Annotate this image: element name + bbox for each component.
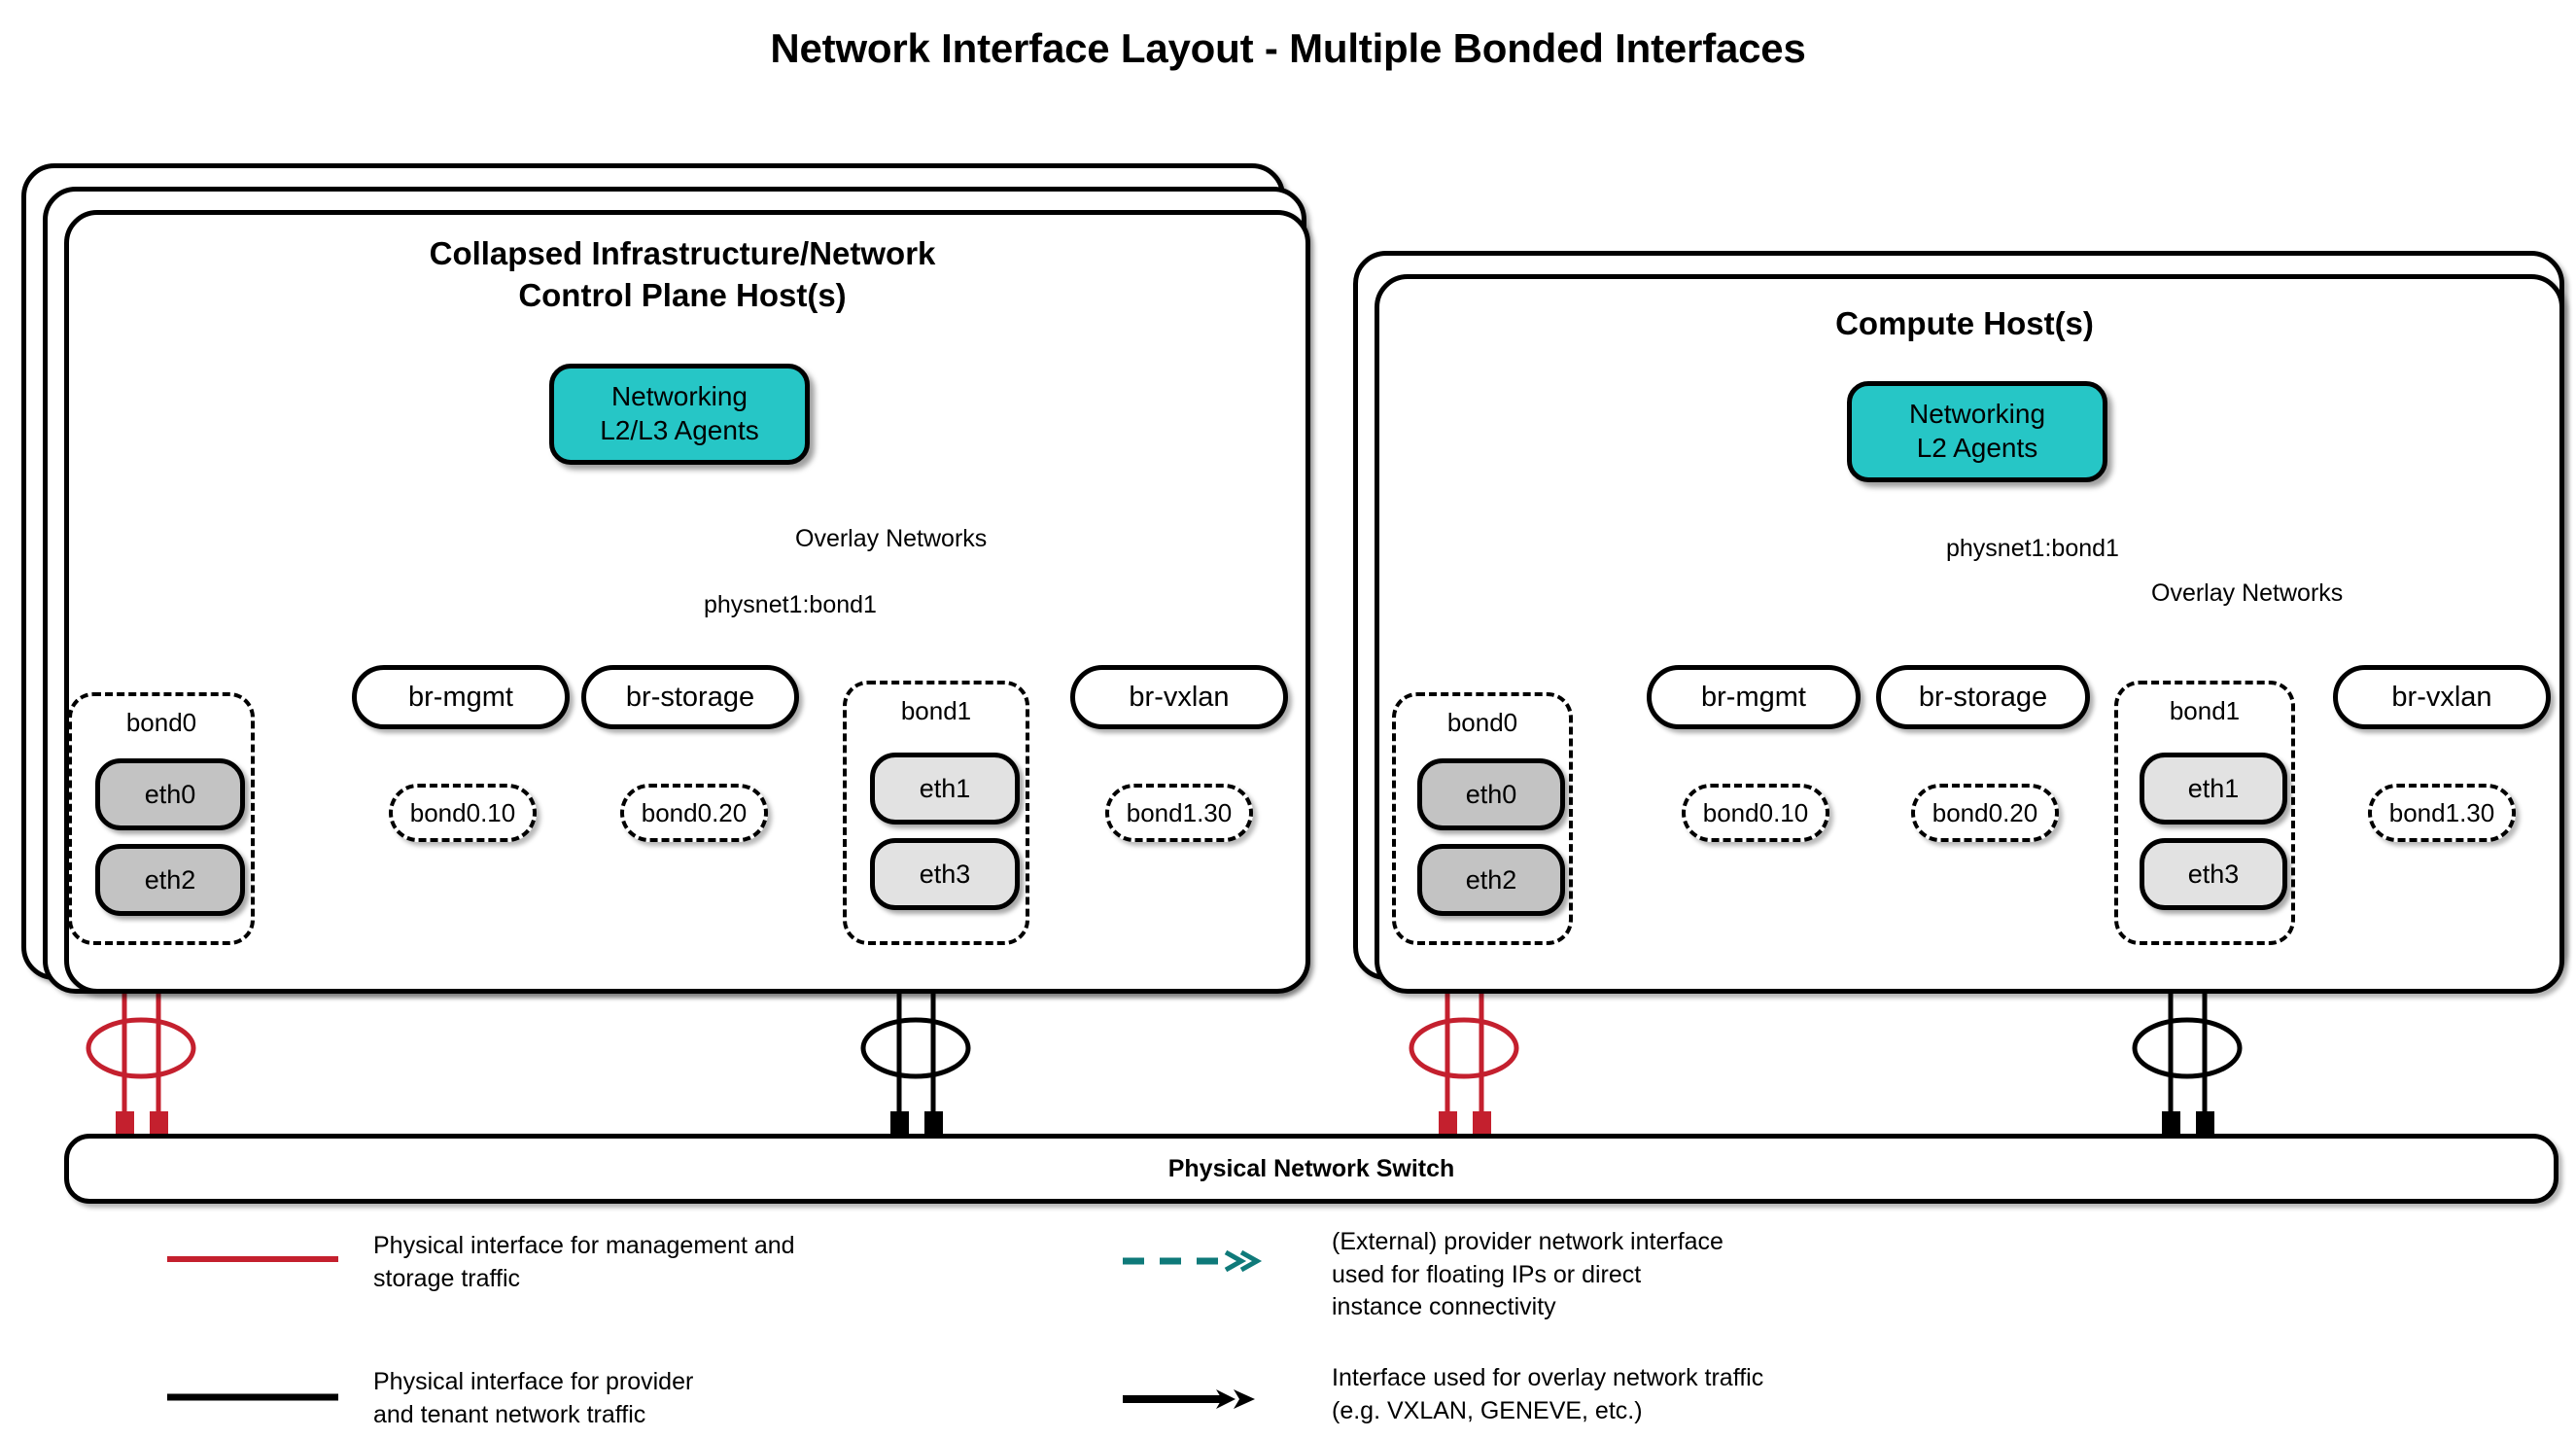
legend-marker-provider-tenant xyxy=(167,1390,342,1409)
agent-box-compute[interactable]: NetworkingL2 Agents xyxy=(1847,381,2107,482)
bridge-br-vxlan-compute[interactable]: br-vxlan xyxy=(2333,665,2551,729)
legend-text-external-provider: (External) provider network interfaceuse… xyxy=(1332,1226,1723,1324)
physical-network-switch[interactable]: Physical Network Switch xyxy=(64,1134,2559,1204)
bridge-br-mgmt-control-plane[interactable]: br-mgmt xyxy=(352,665,570,729)
nic-eth2-compute[interactable]: eth2 xyxy=(1417,844,1565,916)
nic-eth0-compute[interactable]: eth0 xyxy=(1417,758,1565,830)
vlan-bond0-20-compute[interactable]: bond0.20 xyxy=(1911,784,2059,842)
vlan-bond0-10-compute[interactable]: bond0.10 xyxy=(1682,784,1829,842)
agent-box-control-plane[interactable]: NetworkingL2/L3 Agents xyxy=(549,364,810,465)
nic-eth1-compute[interactable]: eth1 xyxy=(2140,753,2287,825)
legend: Physical interface for management andsto… xyxy=(0,1211,2576,1434)
nic-eth1-control-plane[interactable]: eth1 xyxy=(870,753,1020,825)
vlan-bond1-30-control-plane[interactable]: bond1.30 xyxy=(1105,784,1253,842)
black-solid-line-icon xyxy=(167,1390,342,1404)
edge-label-provider-compute: physnet1:bond1 xyxy=(1946,535,2119,563)
nic-eth2-control-plane[interactable]: eth2 xyxy=(95,844,245,916)
nic-eth3-control-plane[interactable]: eth3 xyxy=(870,838,1020,910)
legend-text-mgmt-storage: Physical interface for management andsto… xyxy=(373,1230,795,1295)
bridge-br-storage-control-plane[interactable]: br-storage xyxy=(581,665,799,729)
legend-marker-overlay xyxy=(1123,1387,1298,1416)
bond-label-bond1-compute: bond1 xyxy=(2118,696,2291,726)
bond-label-bond1: bond1 xyxy=(847,696,1026,726)
vlan-bond0-10-control-plane[interactable]: bond0.10 xyxy=(389,784,537,842)
bond-label-bond0: bond0 xyxy=(72,708,251,738)
edge-label-provider-control-plane: physnet1:bond1 xyxy=(704,591,877,619)
vlan-bond0-20-control-plane[interactable]: bond0.20 xyxy=(620,784,768,842)
black-solid-double-arrow-icon xyxy=(1123,1387,1298,1411)
bridge-br-mgmt-compute[interactable]: br-mgmt xyxy=(1647,665,1861,729)
bond-group-bond0-compute[interactable]: bond0 eth0 eth2 xyxy=(1392,692,1573,945)
legend-marker-external-provider xyxy=(1123,1249,1298,1278)
bridge-br-vxlan-control-plane[interactable]: br-vxlan xyxy=(1070,665,1288,729)
edge-label-overlay-control-plane: Overlay Networks xyxy=(795,525,987,553)
nic-eth0-control-plane[interactable]: eth0 xyxy=(95,758,245,830)
legend-marker-mgmt-storage xyxy=(167,1252,342,1271)
red-solid-line-icon xyxy=(167,1252,342,1266)
teal-dashed-double-arrow-icon xyxy=(1123,1249,1298,1273)
bond-label-bond0-compute: bond0 xyxy=(1396,708,1569,738)
legend-text-overlay: Interface used for overlay network traff… xyxy=(1332,1362,1763,1427)
legend-text-provider-tenant: Physical interface for providerand tenan… xyxy=(373,1366,693,1431)
bond-group-bond0-control-plane[interactable]: bond0 eth0 eth2 xyxy=(68,692,255,945)
bridge-br-storage-compute[interactable]: br-storage xyxy=(1876,665,2090,729)
host-title-compute: Compute Host(s) xyxy=(1375,303,2555,345)
host-title-control-plane: Collapsed Infrastructure/NetworkControl … xyxy=(64,233,1301,317)
edge-label-overlay-compute: Overlay Networks xyxy=(2151,579,2343,608)
vlan-bond1-30-compute[interactable]: bond1.30 xyxy=(2368,784,2516,842)
bond-group-bond1-compute[interactable]: bond1 eth1 eth3 xyxy=(2114,681,2295,945)
bond-group-bond1-control-plane[interactable]: bond1 eth1 eth3 xyxy=(843,681,1029,945)
nic-eth3-compute[interactable]: eth3 xyxy=(2140,838,2287,910)
network-diagram: Network Interface Layout - Multiple Bond… xyxy=(0,0,2576,1439)
